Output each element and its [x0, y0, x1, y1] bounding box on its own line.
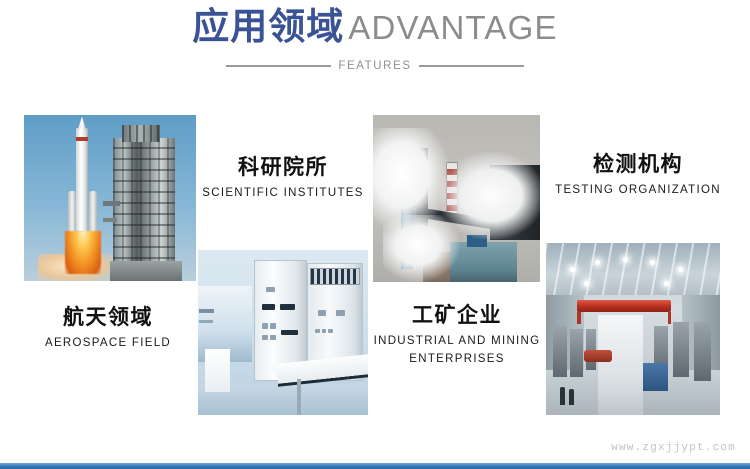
lab-rack2-button-5 — [328, 329, 332, 334]
lab-left-stripe-1 — [199, 309, 214, 313]
page-title-en: ADVANTAGE — [348, 9, 557, 46]
page-header: 应用领域ADVANTAGE — [0, 8, 750, 45]
rocket-booster-right — [89, 191, 98, 233]
launch-tower — [113, 138, 175, 281]
caption-scientific-en-1: SCIENTIFIC INSTITUTES — [192, 185, 374, 203]
lab-rack1-display-2 — [280, 304, 295, 310]
factory-worker-1 — [560, 387, 565, 404]
factory-aisle — [598, 315, 643, 415]
subtitle-rule-right — [419, 65, 524, 67]
lab-terminal-block — [310, 268, 360, 285]
caption-industrial-cn: 工矿企业 — [366, 303, 548, 328]
caption-aerospace-cn: 航天领域 — [10, 305, 206, 330]
factory-machine-1 — [553, 326, 567, 378]
caption-industrial-mining: 工矿企业 INDUSTRIAL AND MINING ENTERPRISES — [366, 303, 548, 369]
factory-machine-6 — [694, 322, 711, 380]
caption-testing-organization: 检测机构 TESTING ORGANIZATION — [540, 152, 736, 200]
subtitle-row: FEATURES — [0, 60, 750, 72]
rocket-exhaust-flame — [65, 231, 101, 274]
tower-arm-upper — [103, 201, 120, 206]
lab-rack1-strip — [281, 330, 298, 335]
lab-left-stripe-2 — [199, 320, 213, 323]
lab-white-cabinet — [205, 349, 231, 392]
factory-red-workpiece — [584, 350, 612, 362]
lab-rack1-button-1 — [262, 323, 268, 329]
caption-aerospace-en-1: AEROSPACE FIELD — [10, 335, 206, 353]
lab-rack2-button-3 — [315, 329, 319, 334]
bottom-accent-bar — [0, 463, 750, 469]
industrial-mining-photo — [373, 115, 540, 282]
lab-rack1-button-3 — [262, 335, 268, 341]
tower-arm-lower — [103, 218, 117, 222]
factory-lamp-2 — [595, 260, 600, 265]
scientific-institutes-photo — [198, 250, 368, 415]
caption-testing-en-1: TESTING ORGANIZATION — [540, 182, 736, 200]
page-title: 应用领域ADVANTAGE — [0, 8, 750, 45]
lab-rack2-button-1 — [318, 310, 327, 316]
factory-machine-5 — [673, 322, 689, 377]
launch-tower-top — [122, 125, 160, 142]
lab-rack1-button-4 — [270, 335, 276, 341]
factory-worker-2 — [569, 389, 574, 404]
launch-pad-base — [110, 261, 182, 281]
caption-industrial-en-1: INDUSTRIAL AND MINING — [366, 333, 548, 351]
site-watermark: www.zgxjjypt.com — [611, 442, 736, 454]
rocket-nose-cone — [78, 117, 87, 130]
lab-rack1-dial — [266, 287, 275, 292]
rocket-body — [76, 128, 89, 231]
caption-scientific-institutes: 科研院所 SCIENTIFIC INSTITUTES — [192, 155, 374, 203]
aerospace-photo — [24, 115, 196, 281]
factory-blue-machine — [643, 363, 667, 391]
lab-rack1-display — [262, 304, 275, 310]
plant-smoke-plume-3 — [383, 215, 460, 282]
subtitle-text: FEATURES — [331, 60, 418, 72]
subtitle-rule-left — [226, 65, 331, 67]
caption-scientific-cn: 科研院所 — [192, 155, 374, 180]
lab-rack1-button-2 — [270, 323, 276, 329]
testing-organization-photo — [546, 243, 720, 415]
lab-rack2-button-4 — [322, 329, 326, 334]
overhead-crane — [577, 300, 671, 312]
rocket-red-band — [76, 137, 89, 141]
factory-lamp-3 — [623, 257, 628, 262]
lab-rack2-button-2 — [336, 310, 345, 316]
caption-testing-cn: 检测机构 — [540, 152, 736, 177]
advantage-banner: 应用领域ADVANTAGE FEATURES 航天领域 AEROSPACE FI… — [0, 0, 750, 469]
crane-leg-right — [668, 312, 671, 324]
factory-machine-2 — [570, 329, 582, 377]
crane-leg-left — [577, 312, 580, 324]
caption-aerospace: 航天领域 AEROSPACE FIELD — [10, 305, 206, 353]
page-title-cn: 应用领域 — [192, 6, 344, 47]
caption-industrial-en-2: ENTERPRISES — [366, 351, 548, 369]
lab-bench-leg — [297, 379, 301, 415]
plant-building-main — [450, 242, 517, 282]
